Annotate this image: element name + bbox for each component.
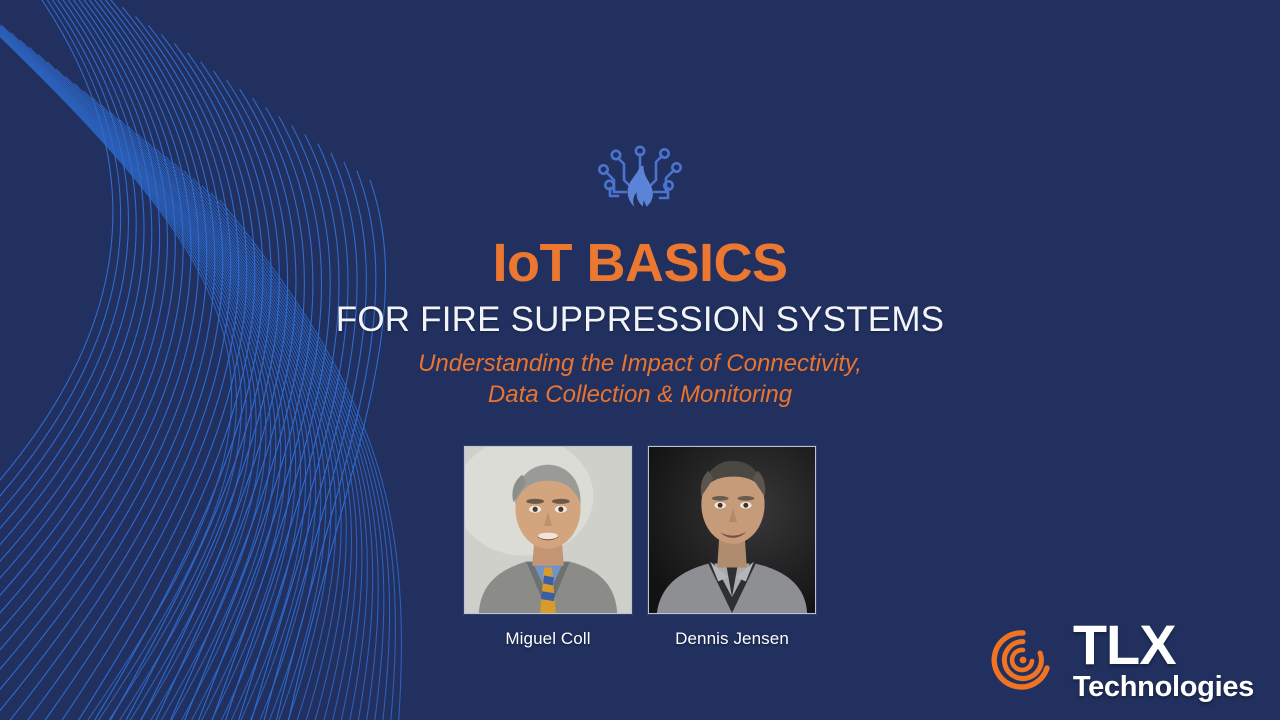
avatar bbox=[648, 446, 816, 614]
company-name: TLX bbox=[1073, 618, 1176, 672]
tagline-line-2: Data Collection & Monitoring bbox=[418, 380, 862, 411]
radar-wave-spiral-icon bbox=[987, 624, 1059, 696]
company-tagline: Technologies bbox=[1073, 673, 1254, 702]
presentation-slide: IoT BASICS FOR FIRE SUPPRESSION SYSTEMS … bbox=[0, 0, 1280, 720]
headshot-miguel-coll bbox=[465, 447, 631, 613]
page-subtitle: FOR FIRE SUPPRESSION SYSTEMS bbox=[336, 302, 944, 337]
company-logo: TLX Technologies bbox=[987, 618, 1254, 702]
presenter-name: Dennis Jensen bbox=[675, 629, 789, 649]
page-title: IoT BASICS bbox=[492, 236, 787, 290]
iot-flame-circuit-icon bbox=[588, 128, 692, 224]
presenter-name: Miguel Coll bbox=[505, 629, 590, 649]
presenter-card: Miguel Coll bbox=[464, 446, 632, 649]
avatar bbox=[464, 446, 632, 614]
presenter-card: Dennis Jensen bbox=[648, 446, 816, 649]
slide-content: IoT BASICS FOR FIRE SUPPRESSION SYSTEMS … bbox=[0, 0, 1280, 720]
headshot-dennis-jensen bbox=[649, 447, 815, 613]
tagline-line-1: Understanding the Impact of Connectivity… bbox=[418, 349, 862, 380]
presenter-list: Miguel Coll bbox=[464, 446, 816, 649]
company-wordmark: TLX Technologies bbox=[1073, 618, 1254, 702]
slide-tagline: Understanding the Impact of Connectivity… bbox=[418, 349, 862, 410]
